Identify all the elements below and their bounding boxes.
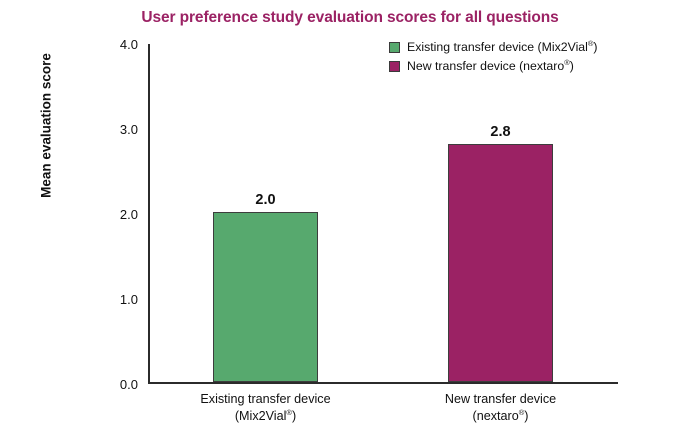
- plot-area: 2.0 2.8: [148, 44, 618, 384]
- chart-title: User preference study evaluation scores …: [0, 9, 700, 27]
- y-axis-title: Mean evaluation score: [39, 0, 54, 266]
- x-category-label-existing-device: Existing transfer device (Mix2Vial®): [151, 391, 381, 425]
- y-axis-line: [148, 44, 150, 384]
- bar-new-device[interactable]: [448, 144, 553, 382]
- bar-chart: User preference study evaluation scores …: [0, 0, 700, 438]
- bar-existing-device[interactable]: [213, 212, 318, 382]
- y-tick-label: 1.0: [98, 293, 138, 306]
- y-tick-label: 2.0: [98, 208, 138, 221]
- x-category-line2: (Mix2Vial®): [151, 408, 381, 425]
- x-category-line1: Existing transfer device: [151, 391, 381, 408]
- x-category-line2: (nextaro®): [386, 408, 616, 425]
- y-axis-tick-labels: 4.0 3.0 2.0 1.0 0.0: [98, 44, 148, 384]
- x-axis-line: [148, 382, 618, 384]
- bar-value-label: 2.8: [441, 124, 561, 140]
- x-category-line1: New transfer device: [386, 391, 616, 408]
- y-tick-label: 3.0: [98, 123, 138, 136]
- y-tick-label: 4.0: [98, 38, 138, 51]
- bar-value-label: 2.0: [206, 192, 326, 208]
- x-category-label-new-device: New transfer device (nextaro®): [386, 391, 616, 425]
- y-tick-label: 0.0: [98, 378, 138, 391]
